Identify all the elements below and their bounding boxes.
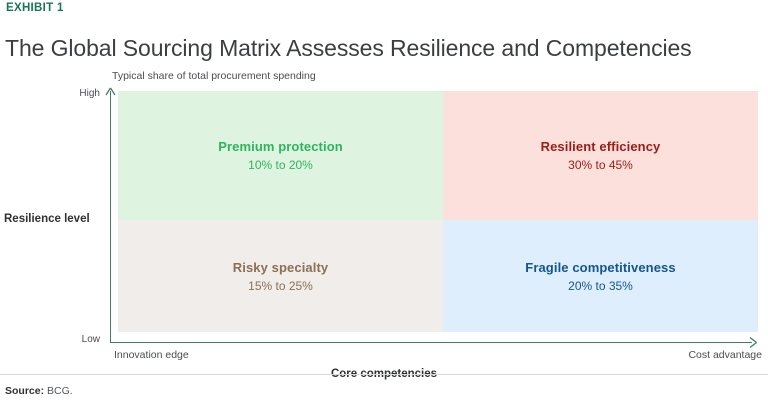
y-axis-line — [110, 91, 111, 343]
chart-subtitle: Typical share of total procurement spend… — [112, 70, 316, 82]
footer-divider — [0, 374, 768, 375]
x-axis-arrow-icon — [744, 336, 758, 349]
y-axis-tick-high: High — [62, 88, 100, 99]
source-note: Source: BCG. — [5, 385, 73, 397]
y-axis-arrow-icon — [104, 86, 117, 98]
quadrant-value: 15% to 25% — [248, 279, 313, 293]
quadrant-value: 10% to 20% — [248, 158, 313, 172]
quadrant-title: Risky specialty — [233, 260, 328, 275]
source-value: BCG. — [47, 385, 73, 397]
quadrant-title: Premium protection — [218, 139, 343, 154]
quadrant-resilient-efficiency[interactable]: Resilient efficiency 30% to 45% — [443, 91, 758, 220]
y-axis-tick-low: Low — [62, 334, 100, 345]
quadrant-title: Fragile competitiveness — [525, 260, 675, 275]
matrix-plot-area: Premium protection 10% to 20% Resilient … — [118, 91, 758, 332]
x-axis-line — [110, 342, 752, 343]
sourcing-matrix-chart: Typical share of total procurement spend… — [0, 62, 768, 372]
x-axis-tick-right: Cost advantage — [688, 349, 762, 361]
exhibit-label: EXHIBIT 1 — [6, 2, 64, 14]
quadrant-title: Resilient efficiency — [541, 139, 661, 154]
source-label: Source: — [5, 385, 44, 397]
quadrant-value: 20% to 35% — [568, 279, 633, 293]
page-title: The Global Sourcing Matrix Assesses Resi… — [5, 35, 692, 62]
quadrant-risky-specialty[interactable]: Risky specialty 15% to 25% — [118, 220, 443, 332]
y-axis-title: Resilience level — [4, 213, 90, 225]
quadrant-value: 30% to 45% — [568, 158, 633, 172]
quadrant-fragile-competitiveness[interactable]: Fragile competitiveness 20% to 35% — [443, 220, 758, 332]
quadrant-premium-protection[interactable]: Premium protection 10% to 20% — [118, 91, 443, 220]
x-axis-tick-left: Innovation edge — [114, 349, 189, 361]
